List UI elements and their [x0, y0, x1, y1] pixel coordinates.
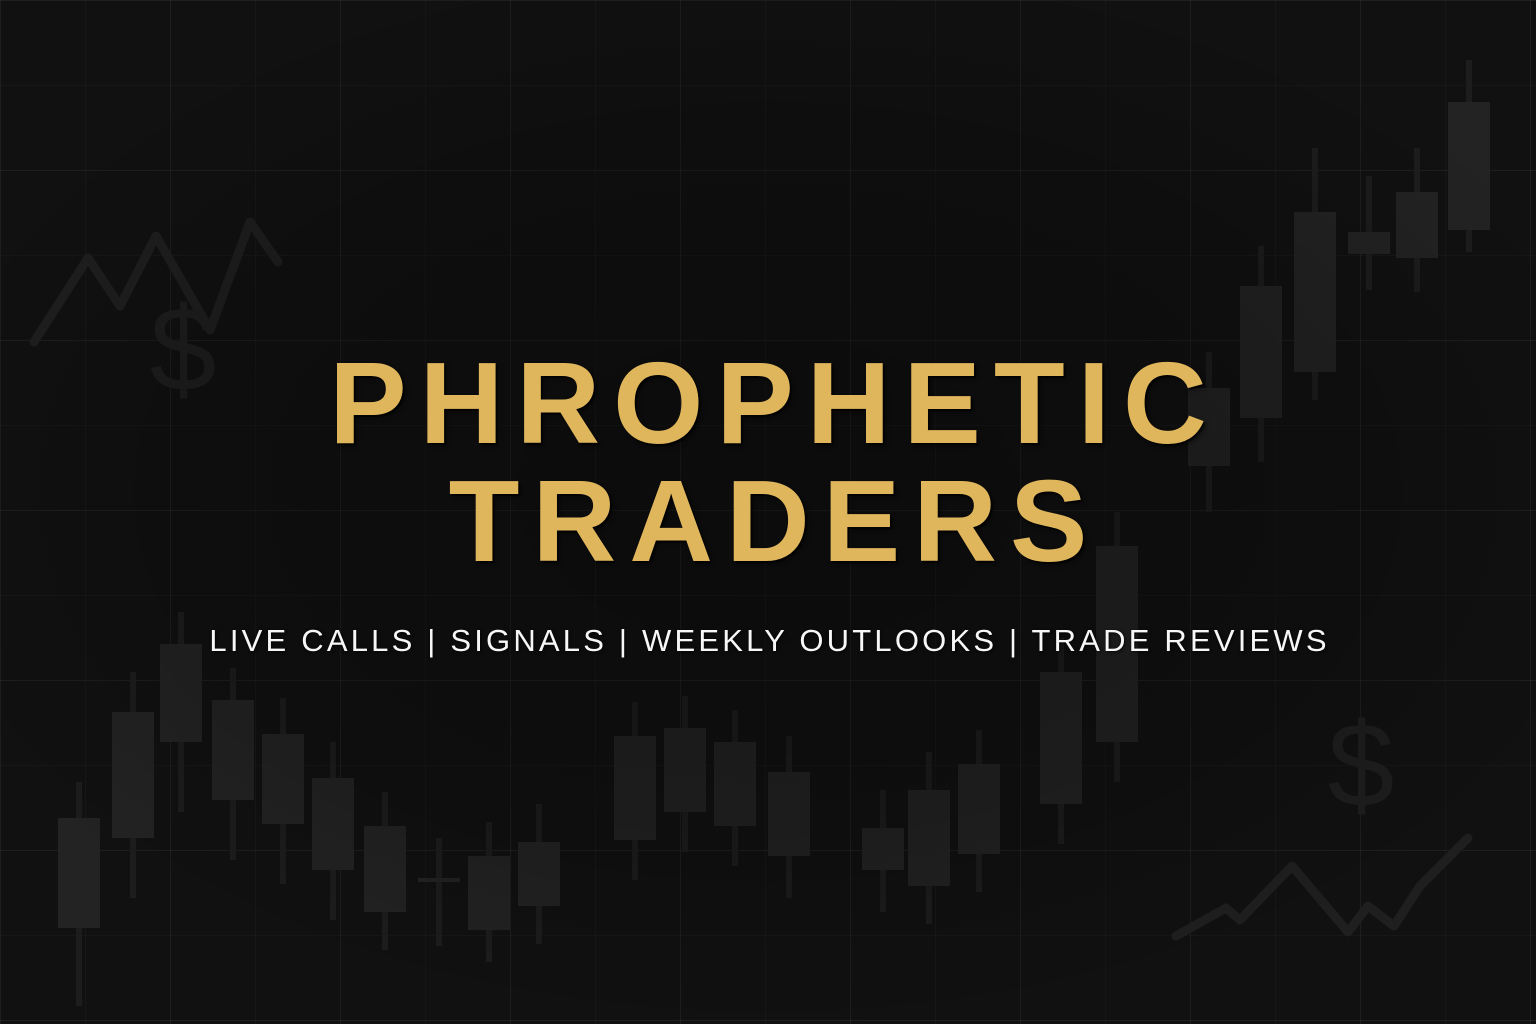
candlestick-body [212, 700, 254, 800]
candlestick-body [160, 644, 202, 742]
candlestick-body [58, 818, 100, 928]
candlestick [614, 702, 656, 880]
candlestick-wick [632, 702, 638, 880]
candlestick-body [768, 772, 810, 856]
candlestick-body [518, 842, 560, 906]
candlestick-body [1448, 102, 1490, 230]
candlestick-body [908, 790, 950, 886]
candlestick-wick [786, 736, 792, 898]
candlestick-wick [926, 752, 932, 924]
zigzag-line-chart-icon [28, 196, 308, 356]
candlestick-wick [682, 696, 688, 852]
dollar-sign-icon-bottom-right: $ [1306, 706, 1416, 826]
candlestick-body [714, 742, 756, 826]
candlestick [1448, 60, 1490, 252]
candlestick-wick [1058, 638, 1064, 844]
candlestick [862, 790, 904, 912]
brand-title-line-1: PHROPHETIC [0, 344, 1536, 462]
candlestick [908, 752, 950, 924]
candlestick [112, 672, 154, 898]
hero-banner: $ $ PHROPHETIC TRADERS LIVE CALLS | SIGN… [0, 0, 1536, 1024]
candlestick-wick [330, 742, 336, 920]
candlestick [58, 782, 100, 1006]
candlestick-body [112, 712, 154, 838]
candlestick-wick [130, 672, 136, 898]
candlestick-body [1040, 672, 1082, 804]
candlestick-body [418, 878, 460, 882]
candlestick [1396, 148, 1438, 292]
candlestick-wick [1414, 148, 1420, 292]
candlestick [1040, 638, 1082, 844]
candlestick-wick [1366, 176, 1372, 290]
candlestick-wick [76, 782, 82, 1006]
candlestick-wick [436, 838, 442, 946]
candlestick [714, 710, 756, 866]
candlestick-body [1348, 232, 1390, 254]
candlestick-wick [880, 790, 886, 912]
dollar-glyph: $ [1328, 706, 1395, 826]
brand-text-block: PHROPHETIC TRADERS LIVE CALLS | SIGNALS … [0, 344, 1536, 658]
candlestick [958, 730, 1000, 892]
candlestick-body [614, 736, 656, 840]
candlestick [468, 822, 510, 962]
candlestick-body [364, 826, 406, 912]
candlestick-wick [976, 730, 982, 892]
candlestick [768, 736, 810, 898]
candlestick-body [262, 734, 304, 824]
candlestick [364, 792, 406, 950]
candlestick [1348, 176, 1390, 290]
candlestick-body [862, 828, 904, 870]
brand-subtitle: LIVE CALLS | SIGNALS | WEEKLY OUTLOOKS |… [0, 624, 1536, 658]
candlestick-wick [732, 710, 738, 866]
rising-line-chart-icon [1170, 822, 1480, 942]
candlestick [518, 804, 560, 944]
candlestick [664, 696, 706, 852]
candlestick [312, 742, 354, 920]
candlestick-wick [486, 822, 492, 962]
candlestick [262, 698, 304, 884]
candlestick-wick [536, 804, 542, 944]
candlestick [212, 668, 254, 860]
brand-title-line-2: TRADERS [0, 462, 1536, 580]
candlestick-body [664, 728, 706, 812]
candlestick-body [1396, 192, 1438, 258]
candlestick-wick [382, 792, 388, 950]
candlestick-body [312, 778, 354, 870]
candlestick-body [958, 764, 1000, 854]
candlestick [418, 838, 460, 946]
candlestick-wick [230, 668, 236, 860]
candlestick-wick [280, 698, 286, 884]
candlestick-body [468, 856, 510, 930]
candlestick-wick [1466, 60, 1472, 252]
